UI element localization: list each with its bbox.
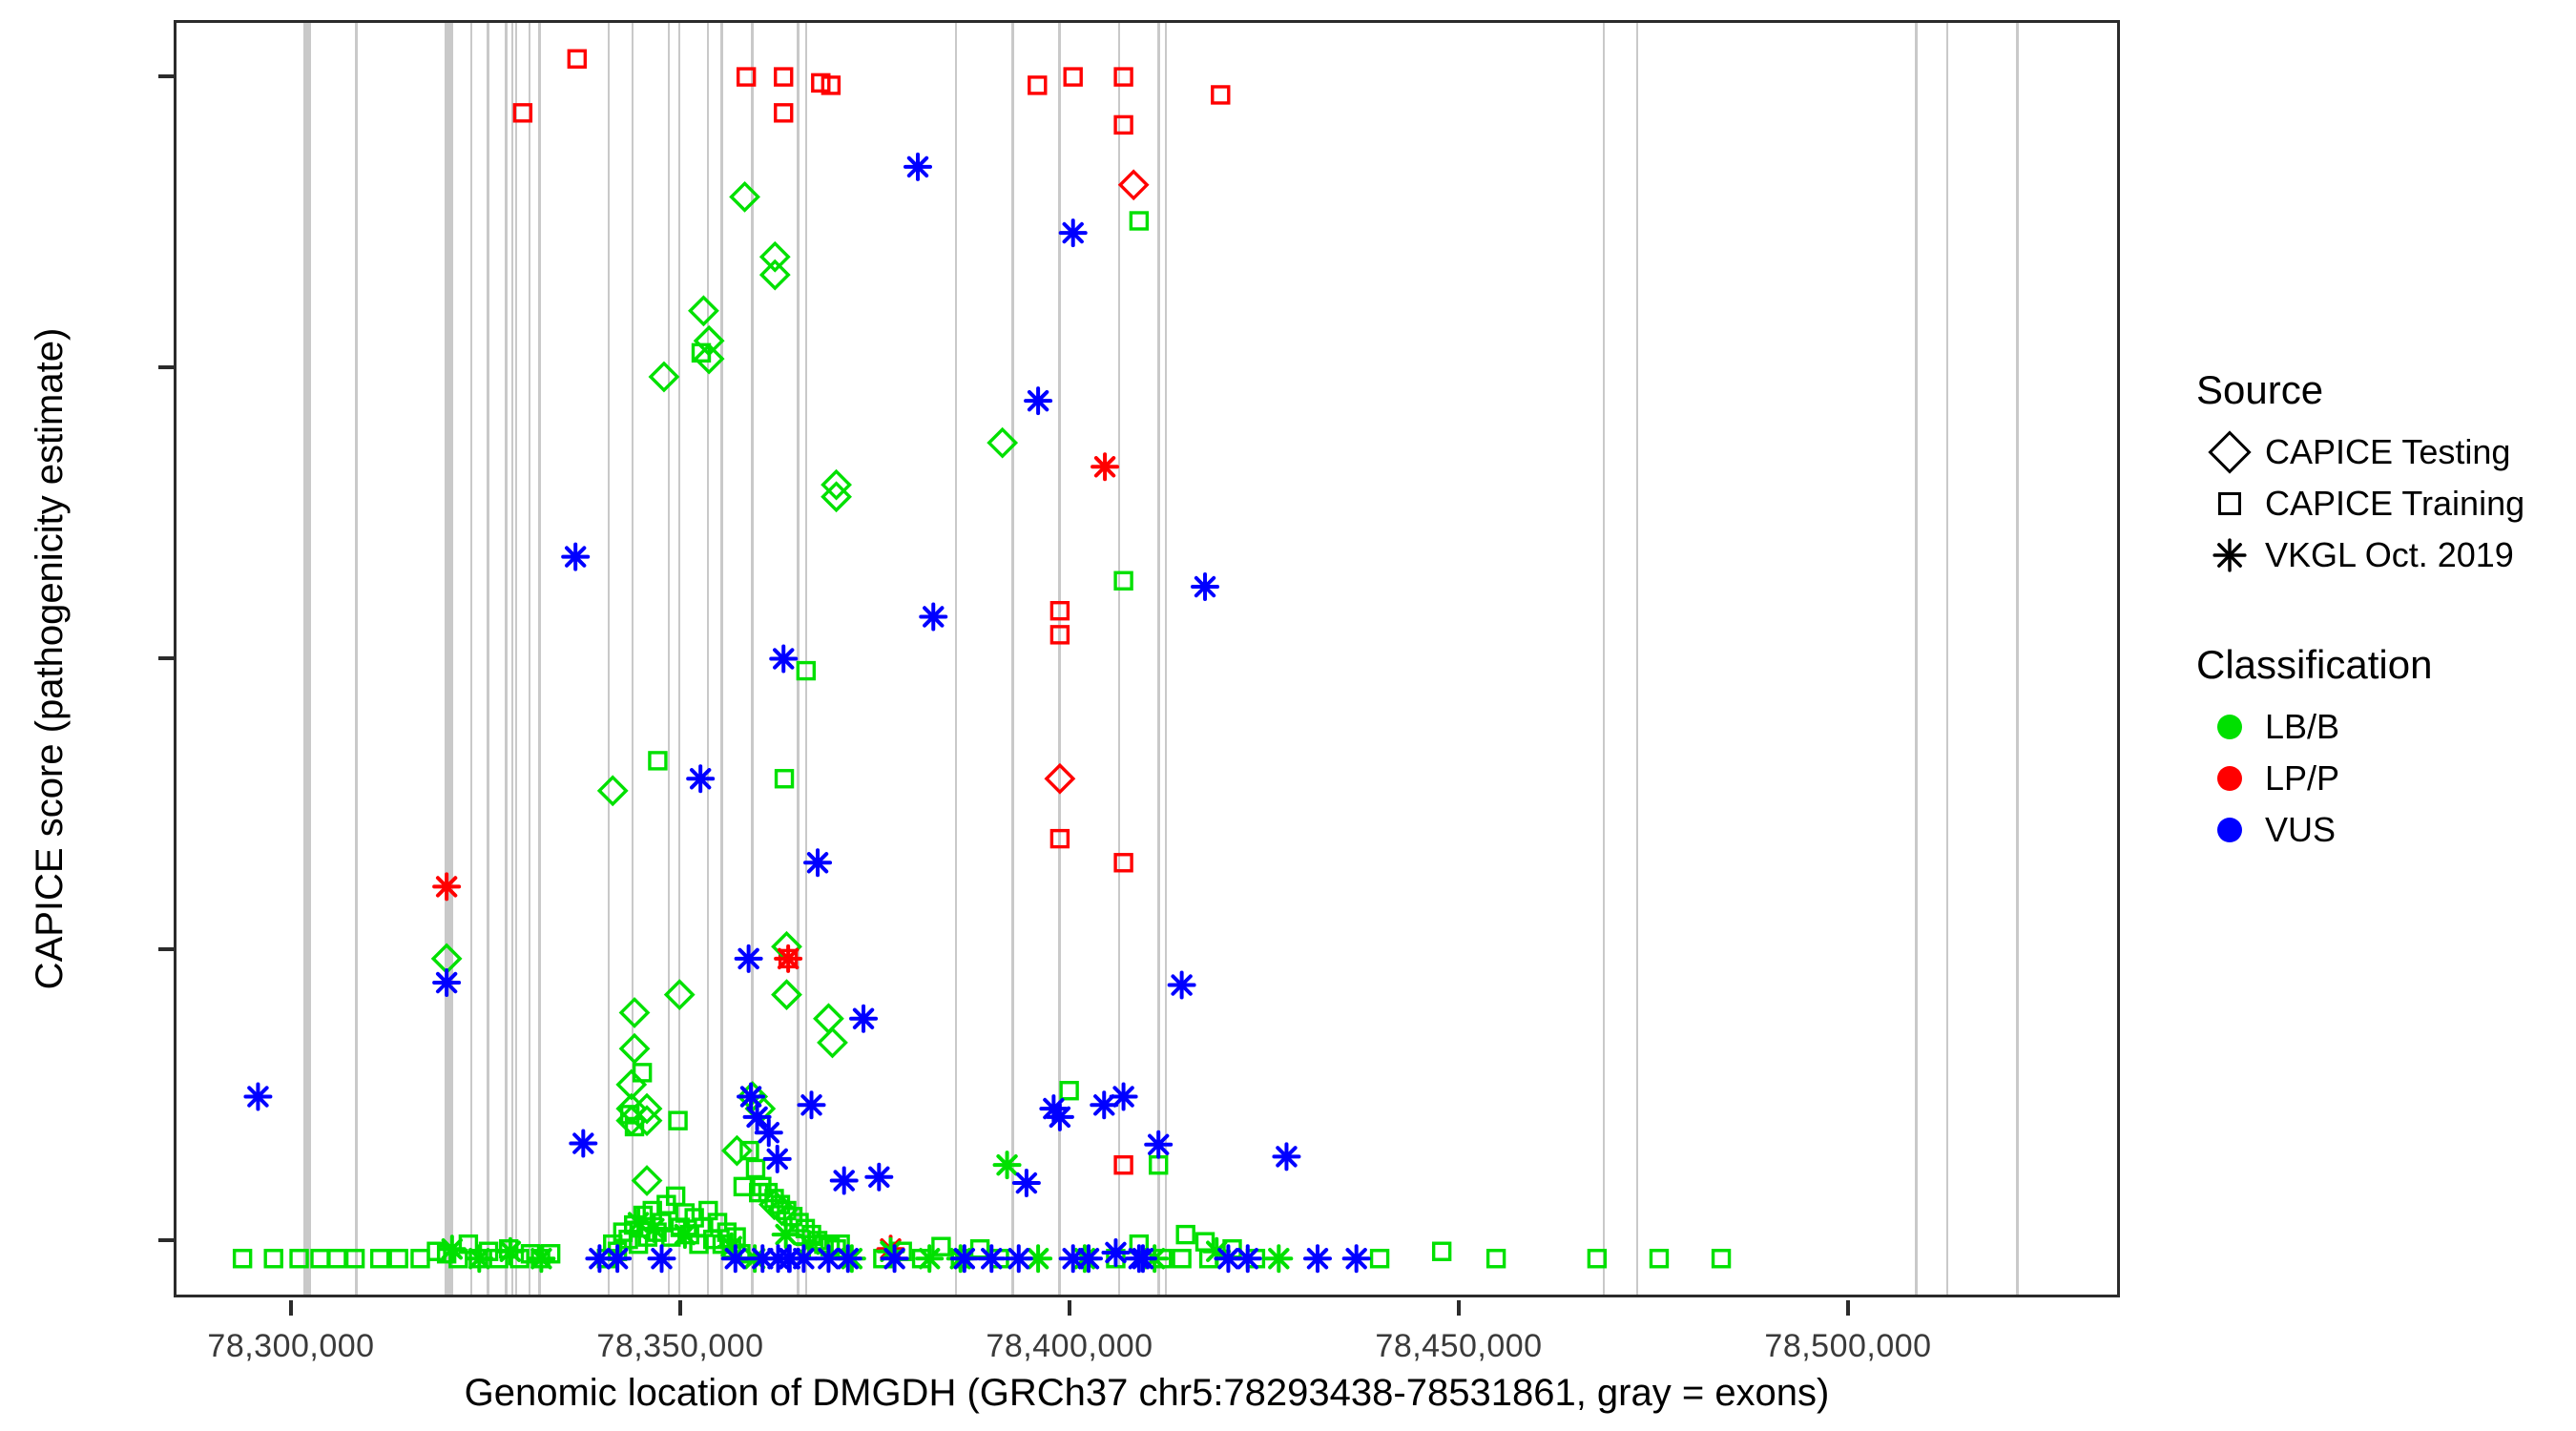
data-point-asterisk: [1131, 1246, 1155, 1271]
series-LP-P-square: [514, 51, 1228, 1172]
data-point-square: [776, 69, 792, 85]
data-point-asterisk: [440, 1236, 465, 1261]
series-LB-B-asterisk: [440, 1152, 1291, 1271]
data-point-asterisk: [771, 647, 796, 672]
data-point-asterisk: [1274, 1144, 1298, 1169]
data-point-square: [1051, 627, 1068, 643]
series-LB-B-square: [235, 213, 1730, 1267]
data-point-square: [569, 51, 585, 67]
data-point-asterisk: [777, 1246, 801, 1271]
data-point-asterisk: [1146, 1132, 1171, 1157]
data-point-diamond: [761, 243, 788, 270]
data-point-square: [347, 1251, 364, 1267]
data-point-asterisk: [774, 1222, 799, 1247]
data-point-asterisk: [498, 1239, 523, 1264]
data-point-square: [1151, 1157, 1167, 1173]
data-point-asterisk: [805, 850, 830, 875]
data-point-diamond: [634, 1168, 660, 1194]
legend-label: VUS: [2265, 810, 2336, 850]
data-point-square: [1051, 831, 1068, 847]
data-point-asterisk: [800, 1092, 824, 1117]
data-point-asterisk: [832, 1169, 857, 1193]
legend-item-capice-training[interactable]: CAPICE Training: [2194, 478, 2576, 529]
data-point-asterisk: [1026, 388, 1050, 413]
data-point-asterisk: [1193, 574, 1217, 599]
data-point-asterisk: [1061, 1246, 1086, 1271]
data-point-square: [670, 1112, 686, 1129]
data-point-asterisk: [688, 766, 713, 791]
data-point-asterisk: [737, 946, 761, 971]
data-point-asterisk: [673, 1222, 697, 1247]
data-point-asterisk: [1007, 1246, 1031, 1271]
series-LB-B-diamond: [433, 183, 1016, 1224]
asterisk-icon: [2194, 536, 2265, 574]
data-point-square: [1115, 855, 1132, 871]
data-point-diamond: [666, 982, 693, 1008]
data-point-asterisk: [434, 874, 459, 899]
data-point-square: [265, 1251, 281, 1267]
data-point-square: [1065, 69, 1081, 85]
data-point-asterisk: [641, 1216, 666, 1241]
data-point-square: [650, 753, 666, 769]
data-point-asterisk: [1014, 1171, 1039, 1195]
figure-root: { "axes": { "y_label": "CAPICE score (pa…: [0, 0, 2576, 1431]
data-point-asterisk: [776, 946, 800, 971]
data-point-asterisk: [979, 1246, 1004, 1271]
data-point-asterisk: [917, 1246, 942, 1271]
data-point-asterisk: [605, 1246, 630, 1271]
legend-item-capice-testing[interactable]: CAPICE Testing: [2194, 426, 2576, 478]
legend-title-classification: Classification: [2196, 642, 2576, 688]
data-point-square: [1131, 213, 1147, 229]
x-tick-label: 78,300,000: [207, 1328, 374, 1365]
data-point-asterisk: [723, 1246, 748, 1271]
data-point-square: [514, 105, 530, 121]
legend-label: LP/P: [2265, 758, 2339, 798]
data-point-square: [1434, 1243, 1450, 1259]
data-point-diamond: [1047, 765, 1073, 792]
data-point-diamond: [1120, 172, 1147, 198]
data-point-square: [1372, 1251, 1388, 1267]
data-point-square: [1115, 572, 1132, 589]
y-tick-mark: [158, 1238, 174, 1242]
x-axis-title: Genomic location of DMGDH (GRCh37 chr5:7…: [174, 1372, 2120, 1415]
y-axis-title: CAPICE score (pathogenicity estimate): [29, 20, 80, 1297]
data-point-square: [1177, 1227, 1194, 1243]
legend-item-vkgl[interactable]: VKGL Oct. 2019: [2194, 529, 2576, 581]
data-point-asterisk: [650, 1246, 675, 1271]
data-point-square: [235, 1251, 251, 1267]
plot-panel: [174, 20, 2120, 1297]
data-point-asterisk: [905, 155, 930, 179]
x-tick-mark: [1846, 1300, 1850, 1316]
data-point-asterisk: [1111, 1085, 1136, 1110]
data-point-asterisk: [1048, 1105, 1072, 1130]
data-point-square: [312, 1251, 328, 1267]
data-point-asterisk: [765, 1147, 790, 1172]
legend-label: CAPICE Testing: [2265, 432, 2510, 472]
data-point-diamond: [599, 778, 626, 804]
x-tick-mark: [1068, 1300, 1071, 1316]
data-point-square: [1029, 77, 1046, 93]
data-point-diamond: [732, 183, 758, 210]
data-point-square: [1589, 1251, 1605, 1267]
data-point-asterisk: [1344, 1246, 1369, 1271]
data-point-square: [735, 1178, 751, 1194]
data-point-asterisk: [1266, 1246, 1291, 1271]
data-point-square: [412, 1251, 428, 1267]
series-VUS-asterisk: [245, 155, 1368, 1271]
x-tick-label: 78,350,000: [596, 1328, 763, 1365]
x-tick-label: 78,500,000: [1764, 1328, 1931, 1365]
data-point-asterisk: [1061, 220, 1086, 245]
plot-area: [177, 23, 2117, 1295]
data-point-diamond: [989, 429, 1016, 456]
data-point-diamond: [621, 1035, 648, 1062]
data-point-square: [1115, 1157, 1132, 1173]
data-point-asterisk: [1170, 973, 1195, 998]
data-point-asterisk: [571, 1131, 595, 1156]
data-point-diamond: [773, 982, 800, 1008]
data-point-asterisk: [866, 1165, 891, 1190]
data-point-square: [291, 1251, 307, 1267]
data-point-asterisk: [1103, 1240, 1128, 1265]
data-point-square: [1651, 1251, 1667, 1267]
data-point-square: [798, 663, 814, 679]
data-point-asterisk: [467, 1246, 491, 1271]
data-point-diamond: [761, 261, 788, 288]
data-point-asterisk: [1092, 454, 1117, 479]
data-point-square: [1174, 1251, 1190, 1267]
x-tick-mark: [678, 1300, 682, 1316]
y-tick-mark: [158, 74, 174, 78]
legend-item-vus[interactable]: VUS: [2194, 804, 2576, 856]
legend: Source CAPICE Testing CAPICE Training VK…: [2194, 367, 2576, 856]
data-point-square: [1051, 603, 1068, 619]
legend-label: VKGL Oct. 2019: [2265, 535, 2514, 575]
data-point-diamond: [621, 999, 648, 1026]
data-point-square: [390, 1251, 406, 1267]
data-point-asterisk: [921, 604, 945, 629]
y-tick-mark: [158, 365, 174, 369]
legend-label: CAPICE Training: [2265, 484, 2524, 524]
data-point-asterisk: [851, 1006, 876, 1031]
dot-icon: [2194, 818, 2265, 842]
data-point-asterisk: [1236, 1246, 1260, 1271]
data-point-asterisk: [952, 1246, 977, 1271]
legend-item-lp-p[interactable]: LP/P: [2194, 753, 2576, 804]
data-point-asterisk: [1305, 1246, 1330, 1271]
legend-spacer: [2194, 581, 2576, 642]
data-point-square: [1115, 69, 1132, 85]
data-point-square: [1488, 1251, 1505, 1267]
data-point-square: [777, 771, 793, 787]
legend-title-source: Source: [2196, 367, 2576, 413]
data-point-asterisk: [836, 1246, 861, 1271]
data-point-asterisk: [738, 1085, 763, 1110]
data-point-square: [1213, 87, 1229, 103]
data-point-square: [329, 1251, 345, 1267]
x-tick-label: 78,400,000: [986, 1328, 1153, 1365]
data-point-asterisk: [434, 970, 459, 995]
data-points-layer: [177, 23, 2117, 1295]
dot-icon: [2194, 715, 2265, 739]
x-tick-mark: [1457, 1300, 1461, 1316]
x-tick-mark: [289, 1300, 293, 1316]
data-point-square: [776, 105, 792, 121]
data-point-asterisk: [757, 1120, 781, 1145]
data-point-square: [1714, 1251, 1730, 1267]
dot-icon: [2194, 766, 2265, 791]
series-LP-P-diamond: [1047, 172, 1147, 792]
data-point-asterisk: [995, 1152, 1020, 1177]
data-point-asterisk: [745, 1105, 770, 1130]
data-point-square: [738, 69, 755, 85]
data-point-asterisk: [245, 1085, 270, 1110]
data-point-diamond: [815, 1006, 841, 1032]
y-tick-mark: [158, 656, 174, 660]
data-point-square: [1061, 1083, 1077, 1099]
data-point-diamond: [819, 1029, 845, 1056]
data-point-asterisk: [883, 1246, 907, 1271]
x-tick-label: 78,450,000: [1375, 1328, 1542, 1365]
data-point-square: [1115, 116, 1132, 133]
diamond-icon: [2194, 437, 2265, 467]
data-point-asterisk: [563, 545, 588, 570]
data-point-asterisk: [750, 1246, 775, 1271]
legend-item-lb-b[interactable]: LB/B: [2194, 701, 2576, 753]
data-point-asterisk: [529, 1246, 553, 1271]
data-point-square: [372, 1251, 388, 1267]
data-point-diamond: [690, 298, 717, 324]
data-point-square: [747, 1160, 763, 1176]
data-point-diamond: [433, 945, 460, 972]
legend-label: LB/B: [2265, 707, 2339, 747]
square-icon: [2194, 492, 2265, 515]
data-point-diamond: [651, 363, 677, 390]
y-tick-mark: [158, 947, 174, 951]
